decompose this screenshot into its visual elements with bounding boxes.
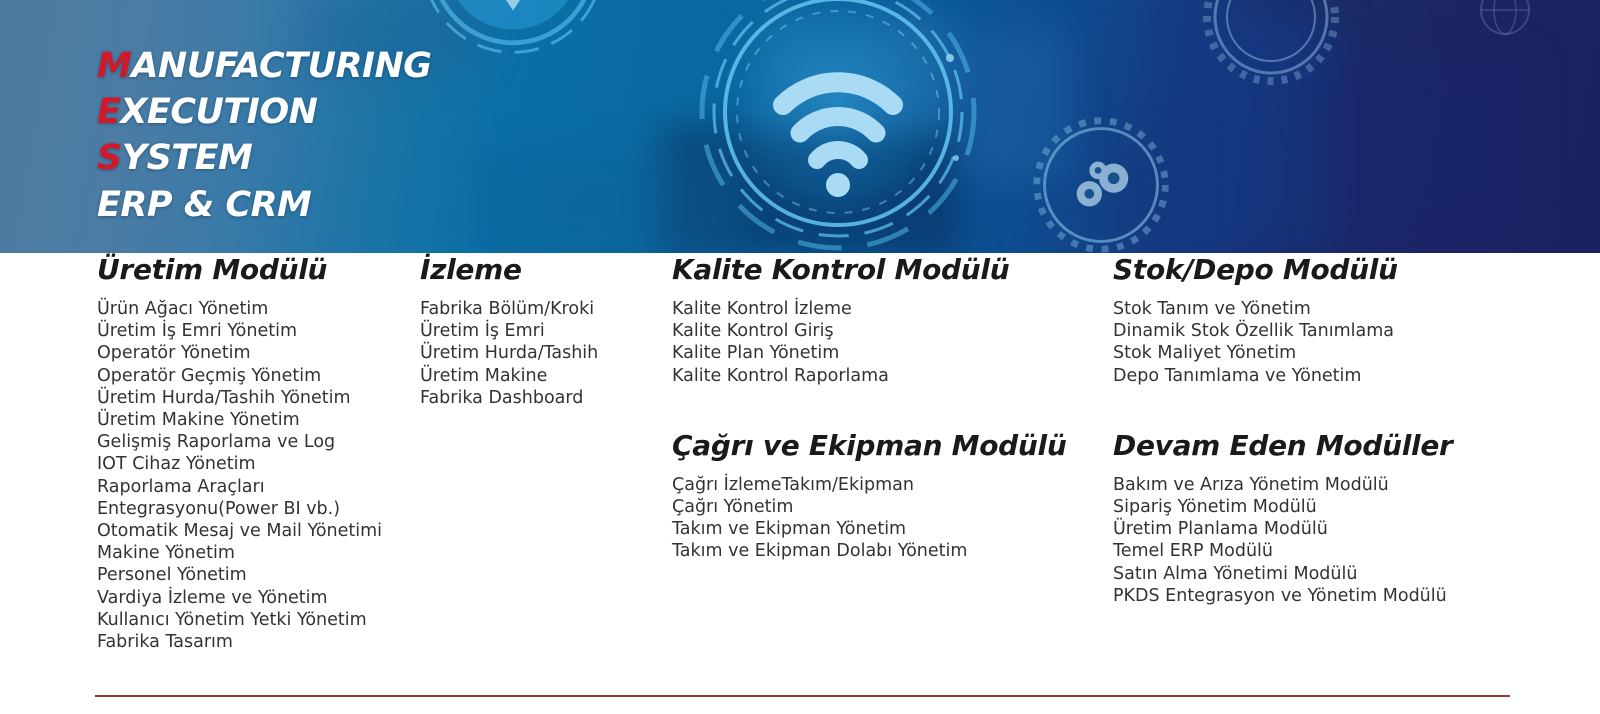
module-list: Fabrika Bölüm/KrokiÜretim İş EmriÜretim … <box>420 298 660 409</box>
list-item: Depo Tanımlama ve Yönetim <box>1113 365 1583 387</box>
title-line-2: EXECUTION <box>97 95 432 130</box>
list-item: Ürün Ağacı Yönetim <box>97 298 407 320</box>
header-banner: MANUFACTURING EXECUTION SYSTEM ERP & CRM <box>0 0 1600 253</box>
module-list: Kalite Kontrol İzlemeKalite Kontrol Giri… <box>672 298 1102 387</box>
tech-circle-icon <box>418 0 608 58</box>
list-item: Kalite Kontrol Giriş <box>672 320 1102 342</box>
list-item: Üretim Planlama Modülü <box>1113 518 1583 540</box>
section-heading: Kalite Kontrol Modülü <box>672 253 1102 286</box>
title-initial-e: E <box>97 92 120 132</box>
list-item: Üretim Makine Yönetim <box>97 409 407 431</box>
list-item: Gelişmiş Raporlama ve Log <box>97 431 407 453</box>
banner-blur-shape <box>1330 60 1530 240</box>
globe-network-icon <box>1475 0 1535 40</box>
list-item: Operatör Geçmiş Yönetim <box>97 365 407 387</box>
title-line-4: ERP & CRM <box>97 188 432 223</box>
wifi-icon <box>688 0 988 253</box>
list-item: Entegrasyonu(Power BI vb.) <box>97 498 407 520</box>
list-item: PKDS Entegrasyon ve Yönetim Modülü <box>1113 585 1583 607</box>
title-initial-s: S <box>97 138 122 178</box>
title-rest-3: YSTEM <box>122 138 253 178</box>
list-item: Üretim İş Emri Yönetim <box>97 320 407 342</box>
list-item: Fabrika Bölüm/Kroki <box>420 298 660 320</box>
section-heading: İzleme <box>420 253 660 286</box>
list-item: IOT Cihaz Yönetim <box>97 453 407 475</box>
title-rest-1: ANUFACTURING <box>131 46 431 86</box>
list-item: Üretim İş Emri <box>420 320 660 342</box>
module-list: Ürün Ağacı YönetimÜretim İş Emri Yönetim… <box>97 298 407 653</box>
list-item: Sipariş Yönetim Modülü <box>1113 496 1583 518</box>
list-item: Vardiya İzleme ve Yönetim <box>97 587 407 609</box>
title-rest-2: XECUTION <box>120 92 317 132</box>
list-item: Çağrı Yönetim <box>672 496 1102 518</box>
list-item: Fabrika Dashboard <box>420 387 660 409</box>
module-column-4: Stok/Depo ModülüStok Tanım ve YönetimDin… <box>1113 253 1583 607</box>
module-section: İzlemeFabrika Bölüm/KrokiÜretim İş EmriÜ… <box>420 253 660 409</box>
list-item: Satın Alma Yönetimi Modülü <box>1113 563 1583 585</box>
list-item: Makine Yönetim <box>97 542 407 564</box>
list-item: Operatör Yönetim <box>97 342 407 364</box>
list-item: Üretim Makine <box>420 365 660 387</box>
module-section: Stok/Depo ModülüStok Tanım ve YönetimDin… <box>1113 253 1583 387</box>
module-list: Stok Tanım ve YönetimDinamik Stok Özelli… <box>1113 298 1583 387</box>
list-item: Temel ERP Modülü <box>1113 540 1583 562</box>
list-item: Kalite Kontrol Raporlama <box>672 365 1102 387</box>
title-initial-m: M <box>97 46 131 86</box>
list-item: Raporlama Araçları <box>97 476 407 498</box>
module-section: Üretim ModülüÜrün Ağacı YönetimÜretim İş… <box>97 253 407 653</box>
module-section: Kalite Kontrol ModülüKalite Kontrol İzle… <box>672 253 1102 387</box>
list-item: Üretim Hurda/Tashih Yönetim <box>97 387 407 409</box>
list-item: Kalite Plan Yönetim <box>672 342 1102 364</box>
footer-divider <box>95 695 1510 697</box>
section-heading: Stok/Depo Modülü <box>1113 253 1583 286</box>
module-list: Çağrı İzlemeTakım/EkipmanÇağrı YönetimTa… <box>672 474 1102 563</box>
title-line-1: MANUFACTURING <box>97 49 432 84</box>
section-heading: Devam Eden Modüller <box>1113 429 1583 462</box>
module-column-1: Üretim ModülüÜrün Ağacı YönetimÜretim İş… <box>97 253 407 653</box>
module-column-2: İzlemeFabrika Bölüm/KrokiÜretim İş EmriÜ… <box>420 253 660 409</box>
list-item: Kullanıcı Yönetim Yetki Yönetim <box>97 609 407 631</box>
list-item: Fabrika Tasarım <box>97 631 407 653</box>
module-list: Bakım ve Arıza Yönetim ModülüSipariş Yön… <box>1113 474 1583 607</box>
list-item: Stok Maliyet Yönetim <box>1113 342 1583 364</box>
list-item: Dinamik Stok Özellik Tanımlama <box>1113 320 1583 342</box>
list-item: Takım ve Ekipman Dolabı Yönetim <box>672 540 1102 562</box>
list-item: Çağrı İzlemeTakım/Ekipman <box>672 474 1102 496</box>
section-heading: Çağrı ve Ekipman Modülü <box>672 429 1102 462</box>
module-section: Çağrı ve Ekipman ModülüÇağrı İzlemeTakım… <box>672 429 1102 563</box>
modules-content: Üretim ModülüÜrün Ağacı YönetimÜretim İş… <box>0 253 1600 714</box>
list-item: Otomatik Mesaj ve Mail Yönetimi <box>97 520 407 542</box>
module-section: Devam Eden ModüllerBakım ve Arıza Yöneti… <box>1113 429 1583 607</box>
list-item: Takım ve Ekipman Yönetim <box>672 518 1102 540</box>
list-item: Bakım ve Arıza Yönetim Modülü <box>1113 474 1583 496</box>
title-rest-4: ERP & CRM <box>97 185 311 225</box>
list-item: Üretim Hurda/Tashih <box>420 342 660 364</box>
list-item: Kalite Kontrol İzleme <box>672 298 1102 320</box>
module-column-3: Kalite Kontrol ModülüKalite Kontrol İzle… <box>672 253 1102 563</box>
gear-ring-icon <box>1196 0 1346 92</box>
section-heading: Üretim Modülü <box>97 253 407 286</box>
title-line-3: SYSTEM <box>97 141 432 176</box>
page-title: MANUFACTURING EXECUTION SYSTEM ERP & CRM <box>97 49 432 223</box>
list-item: Stok Tanım ve Yönetim <box>1113 298 1583 320</box>
slide-page: MANUFACTURING EXECUTION SYSTEM ERP & CRM… <box>0 0 1600 714</box>
gears-icon <box>1028 112 1174 253</box>
list-item: Personel Yönetim <box>97 564 407 586</box>
